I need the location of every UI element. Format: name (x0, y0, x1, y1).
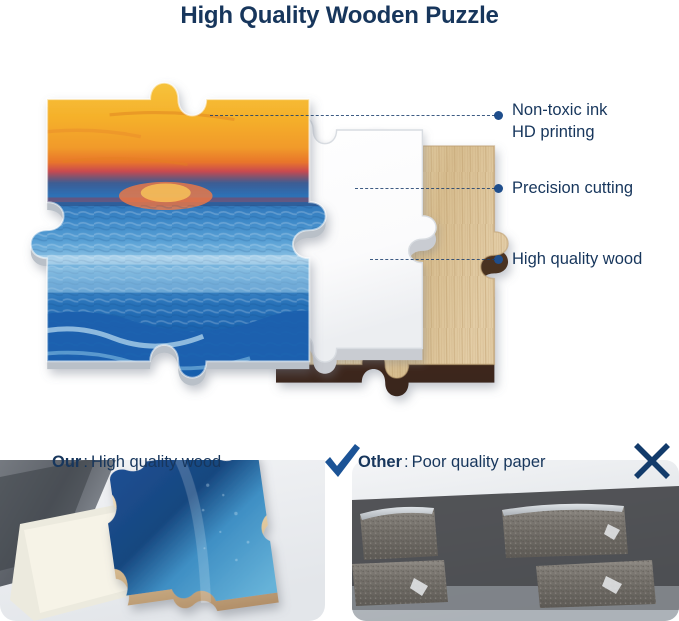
callout-dot (494, 111, 503, 120)
other-label: Poor quality paper (412, 453, 546, 472)
callout-dot (494, 184, 503, 193)
leader-line (210, 115, 495, 117)
comparison-panel-ours: Our : High quality wood (0, 434, 325, 621)
other-photo (352, 460, 679, 621)
cross-icon (631, 442, 671, 482)
page-title: High Quality Wooden Puzzle (0, 2, 679, 30)
comparison-panel-other: Other : Poor quality paper (352, 434, 679, 621)
ours-caption: Our : High quality wood (0, 442, 377, 482)
product-infographic: High Quality Wooden Puzzle (0, 0, 679, 621)
ours-prefix: Our (52, 453, 81, 472)
callout-line-2: HD printing (512, 122, 607, 144)
callout-dot (494, 255, 503, 264)
callout-label: Non-toxic ink HD printing (512, 100, 607, 144)
ours-photo (0, 460, 325, 621)
callout-label: Precision cutting (512, 178, 633, 200)
callout-non-toxic-ink: Non-toxic ink HD printing (210, 94, 607, 138)
leader-line (370, 259, 495, 261)
callout-line-1: Non-toxic ink (512, 100, 607, 122)
ours-label: High quality wood (91, 453, 221, 472)
callout-precision-cutting: Precision cutting (355, 178, 633, 200)
cardboard-slab (360, 507, 438, 560)
ours-separator: : (83, 453, 88, 472)
other-prefix: Other (358, 453, 402, 472)
leader-line (355, 188, 495, 190)
other-caption: Other : Poor quality paper (352, 442, 679, 482)
callout-label: High quality wood (512, 249, 642, 271)
other-separator: : (404, 453, 409, 472)
callout-high-quality-wood: High quality wood (370, 249, 642, 271)
comparison-section: Our : High quality wood (0, 434, 679, 621)
